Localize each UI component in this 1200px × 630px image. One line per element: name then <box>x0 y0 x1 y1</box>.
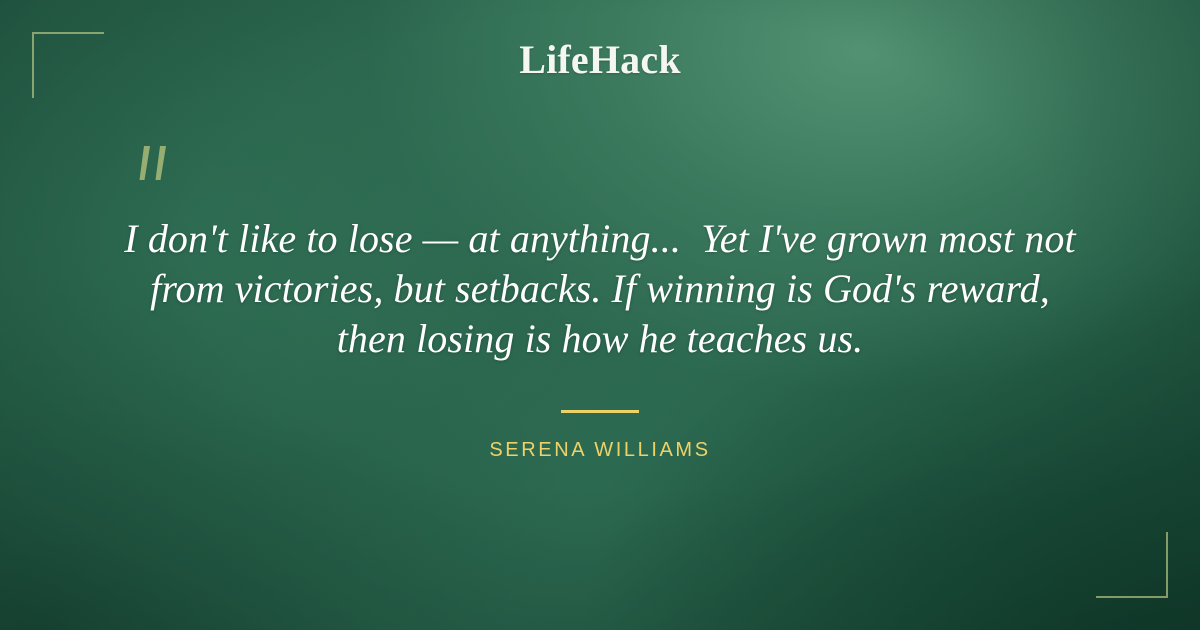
double-quote-icon <box>128 142 182 198</box>
quote-card: LifeHack I don't like to lose — at anyth… <box>0 0 1200 630</box>
quote-line: then losing is how he teaches us. <box>96 314 1104 364</box>
quote-line: from victories, but setbacks. If winning… <box>96 264 1104 314</box>
quote-line: I don't like to lose — at anything... Ye… <box>96 214 1104 264</box>
corner-bracket-bottom-right-icon <box>1096 532 1168 598</box>
author-name: SERENA WILLIAMS <box>0 438 1200 462</box>
lifehack-logo: LifeHack <box>0 40 1200 80</box>
attribution-divider <box>561 410 639 413</box>
quote-text: I don't like to lose — at anything... Ye… <box>96 214 1104 364</box>
